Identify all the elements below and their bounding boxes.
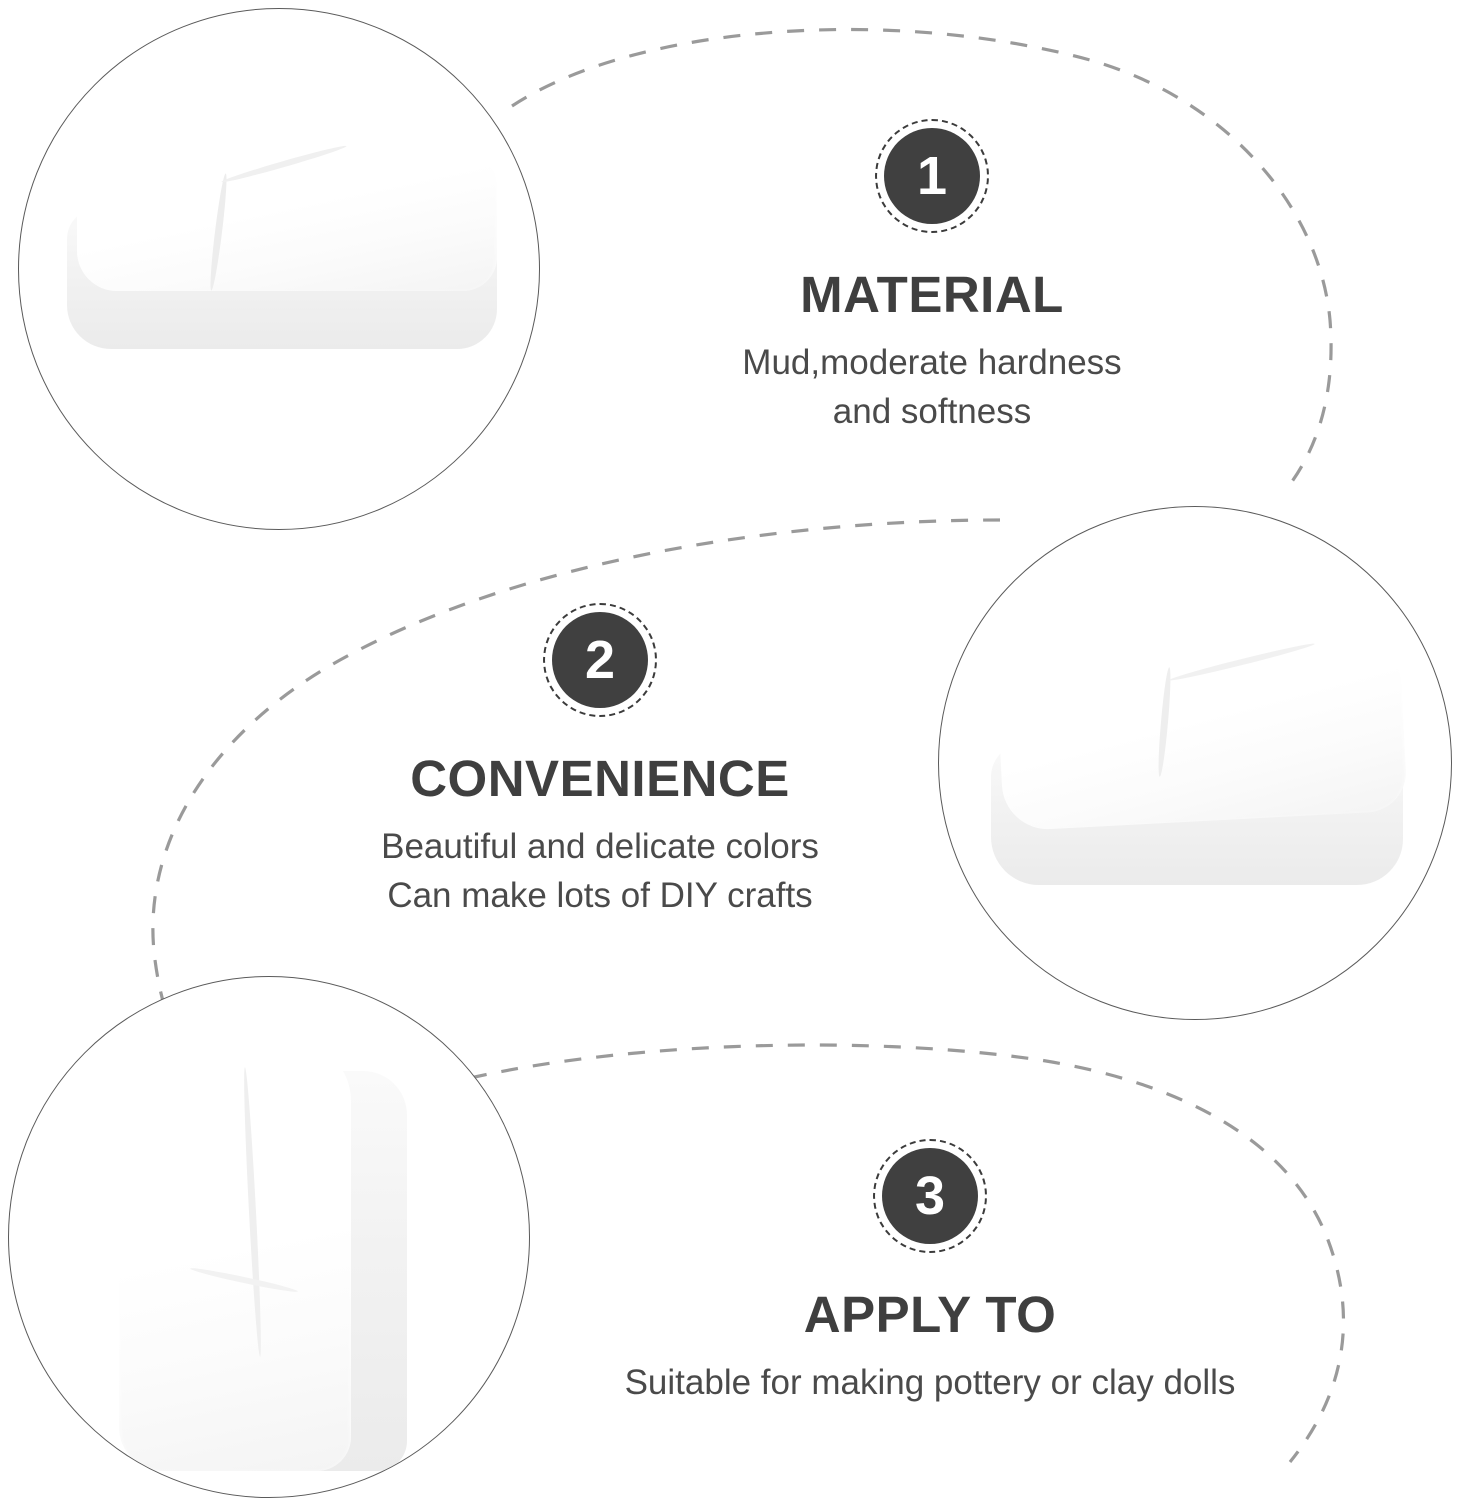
feature-line: Suitable for making pottery or clay doll… (550, 1358, 1310, 1408)
feature-description-3: Suitable for making pottery or clay doll… (550, 1358, 1310, 1408)
feature-title-2: CONVENIENCE (300, 752, 900, 806)
feature-line: Mud,moderate hardness (632, 338, 1232, 388)
feature-title-3: APPLY TO (630, 1288, 1230, 1342)
product-photo-circle-2 (938, 506, 1452, 1020)
feature-block-1: 1 MATERIAL Mud,moderate hardness and sof… (632, 128, 1232, 437)
feature-description-2: Beautiful and delicate colors Can make l… (300, 822, 900, 921)
clay-block-top-3 (119, 1041, 351, 1471)
step-badge-3: 3 (882, 1148, 978, 1244)
step-badge-1: 1 (884, 128, 980, 224)
infographic-page: 1 MATERIAL Mud,moderate hardness and sof… (0, 0, 1483, 1500)
step-badge-2: 2 (552, 612, 648, 708)
feature-line: Can make lots of DIY crafts (300, 871, 900, 921)
feature-line: Beautiful and delicate colors (300, 822, 900, 872)
feature-block-3: 3 APPLY TO Suitable for making pottery o… (630, 1148, 1230, 1407)
clay-block-top-2 (994, 615, 1408, 832)
feature-title-1: MATERIAL (632, 268, 1232, 322)
product-photo-circle-1 (18, 8, 540, 530)
feature-line: and softness (632, 387, 1232, 437)
clay-block-top-1 (77, 131, 497, 291)
product-photo-circle-3 (8, 976, 530, 1498)
feature-description-1: Mud,moderate hardness and softness (632, 338, 1232, 437)
feature-block-2: 2 CONVENIENCE Beautiful and delicate col… (300, 612, 900, 921)
